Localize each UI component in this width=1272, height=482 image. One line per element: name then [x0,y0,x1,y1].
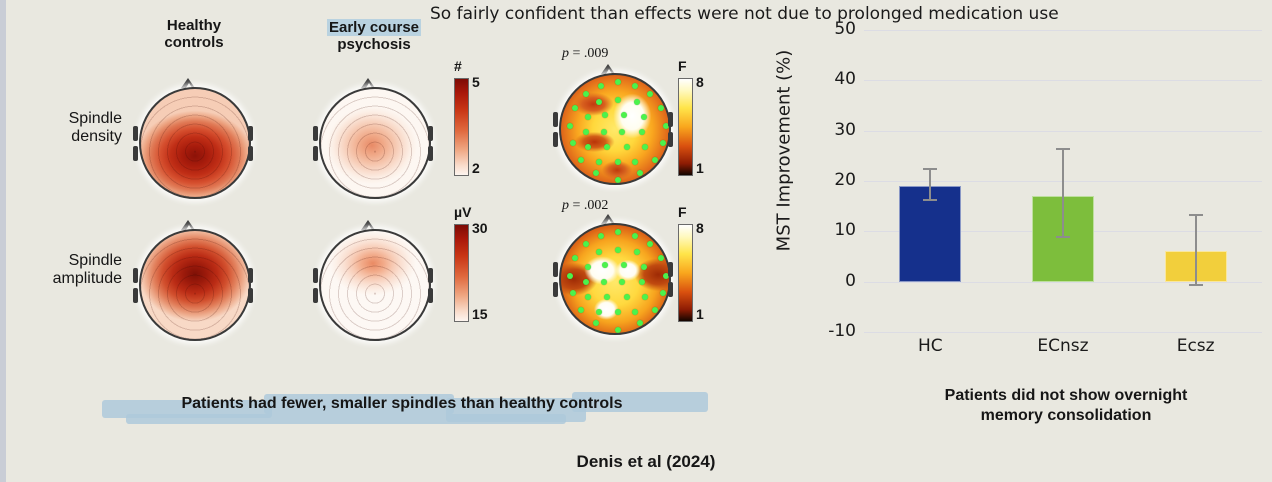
chart-error-bar [1062,148,1064,236]
topoplot-ecp-spindle-density [314,82,432,200]
highlight-stroke [126,414,566,424]
ear-marker-right [428,268,433,283]
topoplot-ecp-spindle-amplitude [314,224,432,342]
colorbar-gradient [678,224,693,322]
ear-marker-left [553,112,558,127]
ear-marker-right-lower [248,288,253,303]
chart-error-cap-top [1189,214,1203,216]
colorbar-max-tick: 5 [472,74,480,90]
ear-marker-left [313,268,318,283]
colorbar-min-tick: 15 [472,306,488,322]
chart-bar-hc [899,30,961,332]
colorbar-min-tick: 1 [696,160,704,176]
row-label-line1: Spindle [69,252,122,269]
colorbar-unit-label: # [454,58,462,74]
topoplot-stat-spindle-density [554,68,672,186]
chart-error-cap-bottom [1189,284,1203,286]
chart-x-tick-label: HC [870,336,990,356]
bar-chart-panel: MST Improvement (%) 50403020100-10 HCECn… [752,22,1272,374]
pvalue-italic-p: p [562,198,569,213]
row-label-spindle-density: Spindle density [12,110,122,147]
ear-marker-left-lower [133,146,138,161]
ear-marker-right-lower [428,146,433,161]
ear-marker-left [133,268,138,283]
chart-x-tick-label: Ecsz [1136,336,1256,356]
ear-marker-left [553,262,558,277]
colorbar-max-tick: 8 [696,220,704,236]
ear-marker-right [428,126,433,141]
topoplot-f-map [559,223,671,335]
contour-lines [321,89,429,197]
colorbar-min-tick: 1 [696,306,704,322]
ear-marker-left [313,126,318,141]
chart-y-tick-label: -10 [796,321,856,341]
caption-line1: Patients did not show overnight [945,387,1188,404]
row-label-line2: amplitude [53,270,122,287]
colorbar-gradient [678,78,693,176]
column-header-line1: Early course [327,19,421,36]
ear-marker-left-lower [313,288,318,303]
top-caption: So fairly confident than effects were no… [430,4,1130,24]
colorbar-gradient [454,78,469,176]
ear-marker-right-lower [668,282,673,297]
chart-y-tick-label: 40 [796,69,856,89]
colorbar-gradient [454,224,469,322]
ear-marker-left-lower [553,282,558,297]
ear-marker-right-lower [668,132,673,147]
column-header-line1: Healthy [167,17,221,34]
pvalue-label-spindle-density: p = .009 [562,46,608,62]
topoplot-scalp-map [319,87,431,199]
ear-marker-right [248,268,253,283]
chart-y-tick-label: 20 [796,170,856,190]
colorbar-min-tick: 2 [472,160,480,176]
y-axis-title: MST Improvement (%) [774,31,795,271]
topoplot-f-map [559,73,671,185]
electrode-dots [561,75,669,183]
electrode-dots [561,225,669,333]
ear-marker-right [668,112,673,127]
topoplot-scalp-map [319,229,431,341]
contour-lines [141,231,249,339]
chart-y-tick-label: 0 [796,271,856,291]
ear-marker-left-lower [553,132,558,147]
pvalue-label-spindle-amplitude: p = .002 [562,198,608,214]
colorbar-max-tick: 8 [696,74,704,90]
chart-error-cap-top [923,168,937,170]
chart-bar-ecsz [1165,30,1227,332]
row-label-line2: density [71,128,122,145]
caption-left-panel: Patients had fewer, smaller spindles tha… [90,394,714,414]
chart-y-tick-label: 50 [796,19,856,39]
chart-error-bar [1195,214,1197,284]
chart-x-tick-label: ECnsz [1003,336,1123,356]
colorbar-unit-label: µV [454,204,471,220]
topoplot-scalp-map [139,87,251,199]
pvalue-rest: = .002 [569,198,608,213]
column-header-line2: psychosis [337,36,410,53]
row-label-spindle-amplitude: Spindle amplitude [8,252,122,289]
pvalue-rest: = .009 [569,46,608,61]
chart-gridline [864,332,1262,333]
topoplot-hc-spindle-amplitude [134,224,252,342]
ear-marker-right [668,262,673,277]
ear-marker-left-lower [313,146,318,161]
column-header-line2: controls [164,34,223,51]
contour-lines [141,89,249,197]
column-header-healthy-controls: Healthy controls [124,18,264,52]
colorbar-unit-label: F [678,204,687,220]
ear-marker-right-lower [248,146,253,161]
contour-lines [321,231,429,339]
pvalue-italic-p: p [562,46,569,61]
topoplot-hc-spindle-density [134,82,252,200]
slide-canvas: So fairly confident than effects were no… [0,0,1272,482]
topoplot-stat-spindle-amplitude [554,218,672,336]
ear-marker-left-lower [133,288,138,303]
chart-error-cap-bottom [923,199,937,201]
caption-right-panel: Patients did not show overnight memory c… [862,386,1270,426]
ear-marker-right-lower [428,288,433,303]
ear-marker-right [248,126,253,141]
colorbar-unit-label: F [678,58,687,74]
chart-y-tick-label: 30 [796,120,856,140]
chart-plot-area: 50403020100-10 HCECnszEcsz [864,30,1262,332]
chart-y-tick-label: 10 [796,220,856,240]
chart-error-cap-bottom [1056,236,1070,238]
colorbar-max-tick: 30 [472,220,488,236]
column-header-early-course-psychosis: Early course psychosis [298,20,450,54]
caption-line2: memory consolidation [981,407,1152,424]
chart-error-bar [929,168,931,198]
ear-marker-left [133,126,138,141]
chart-error-cap-top [1056,148,1070,150]
topoplot-scalp-map [139,229,251,341]
row-label-line1: Spindle [69,110,122,127]
chart-bar-ecnsz [1032,30,1094,332]
citation-label: Denis et al (2024) [446,452,846,472]
